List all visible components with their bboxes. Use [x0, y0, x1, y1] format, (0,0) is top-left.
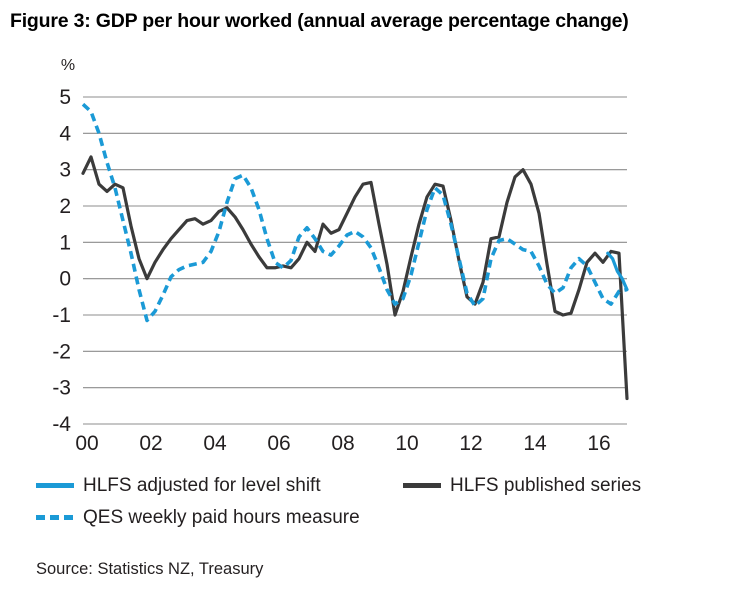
x-tick-label: 16 — [587, 432, 610, 455]
x-tick-label: 00 — [75, 432, 98, 455]
y-tick-label: 2 — [59, 195, 71, 218]
x-tick-label: 10 — [395, 432, 418, 455]
y-tick-label: 5 — [59, 86, 71, 109]
y-tick-label: 3 — [59, 159, 71, 182]
data-series-group — [83, 104, 627, 398]
figure-container: Figure 3: GDP per hour worked (annual av… — [0, 0, 750, 595]
legend-label-hlfs-adjusted: HLFS adjusted for level shift — [83, 476, 321, 495]
legend-swatch-blue-solid-icon — [36, 483, 74, 488]
x-tick-label: 08 — [331, 432, 354, 455]
y-axis-unit-label: % — [61, 57, 75, 74]
y-tick-label: 0 — [59, 268, 71, 291]
y-axis-unit-group: % — [61, 57, 75, 74]
y-tick-label: -4 — [52, 413, 71, 436]
x-tick-label: 06 — [267, 432, 290, 455]
y-tick-label: 1 — [59, 231, 71, 254]
x-tick-label: 12 — [459, 432, 482, 455]
y-tick-label: -3 — [52, 377, 71, 400]
legend-item-hlfs-adjusted: HLFS adjusted for level shift — [36, 470, 321, 500]
legend-swatch-blue-dashed-icon — [36, 515, 74, 520]
y-tick-label: 4 — [59, 122, 71, 145]
source-note: Source: Statistics NZ, Treasury — [36, 560, 263, 579]
legend-swatch-black-solid-icon — [403, 483, 441, 488]
y-tick-label: -1 — [52, 304, 71, 327]
x-tick-label: 14 — [523, 432, 547, 455]
legend-item-hlfs-published: HLFS published series — [403, 470, 641, 500]
figure-title: Figure 3: GDP per hour worked (annual av… — [10, 10, 740, 33]
chart-legend: HLFS adjusted for level shift HLFS publi… — [0, 464, 750, 540]
legend-item-qes: QES weekly paid hours measure — [36, 502, 360, 532]
x-tick-label: 04 — [203, 432, 227, 455]
y-axis-tick-labels: 543210-1-2-3-4 — [52, 86, 71, 436]
series-line-hlfs-adjusted-for-level-shift — [608, 253, 627, 289]
chart-plot-area: % 543210-1-2-3-4 000204060810121416 — [0, 48, 750, 458]
x-tick-label: 02 — [139, 432, 162, 455]
legend-label-hlfs-published: HLFS published series — [450, 476, 641, 495]
x-axis-tick-labels: 000204060810121416 — [75, 432, 610, 455]
line-chart-svg: % 543210-1-2-3-4 000204060810121416 — [0, 48, 750, 458]
legend-label-qes: QES weekly paid hours measure — [83, 508, 360, 527]
y-tick-label: -2 — [52, 340, 71, 363]
series-line-qes-weekly-paid-hours-measure — [83, 104, 627, 320]
